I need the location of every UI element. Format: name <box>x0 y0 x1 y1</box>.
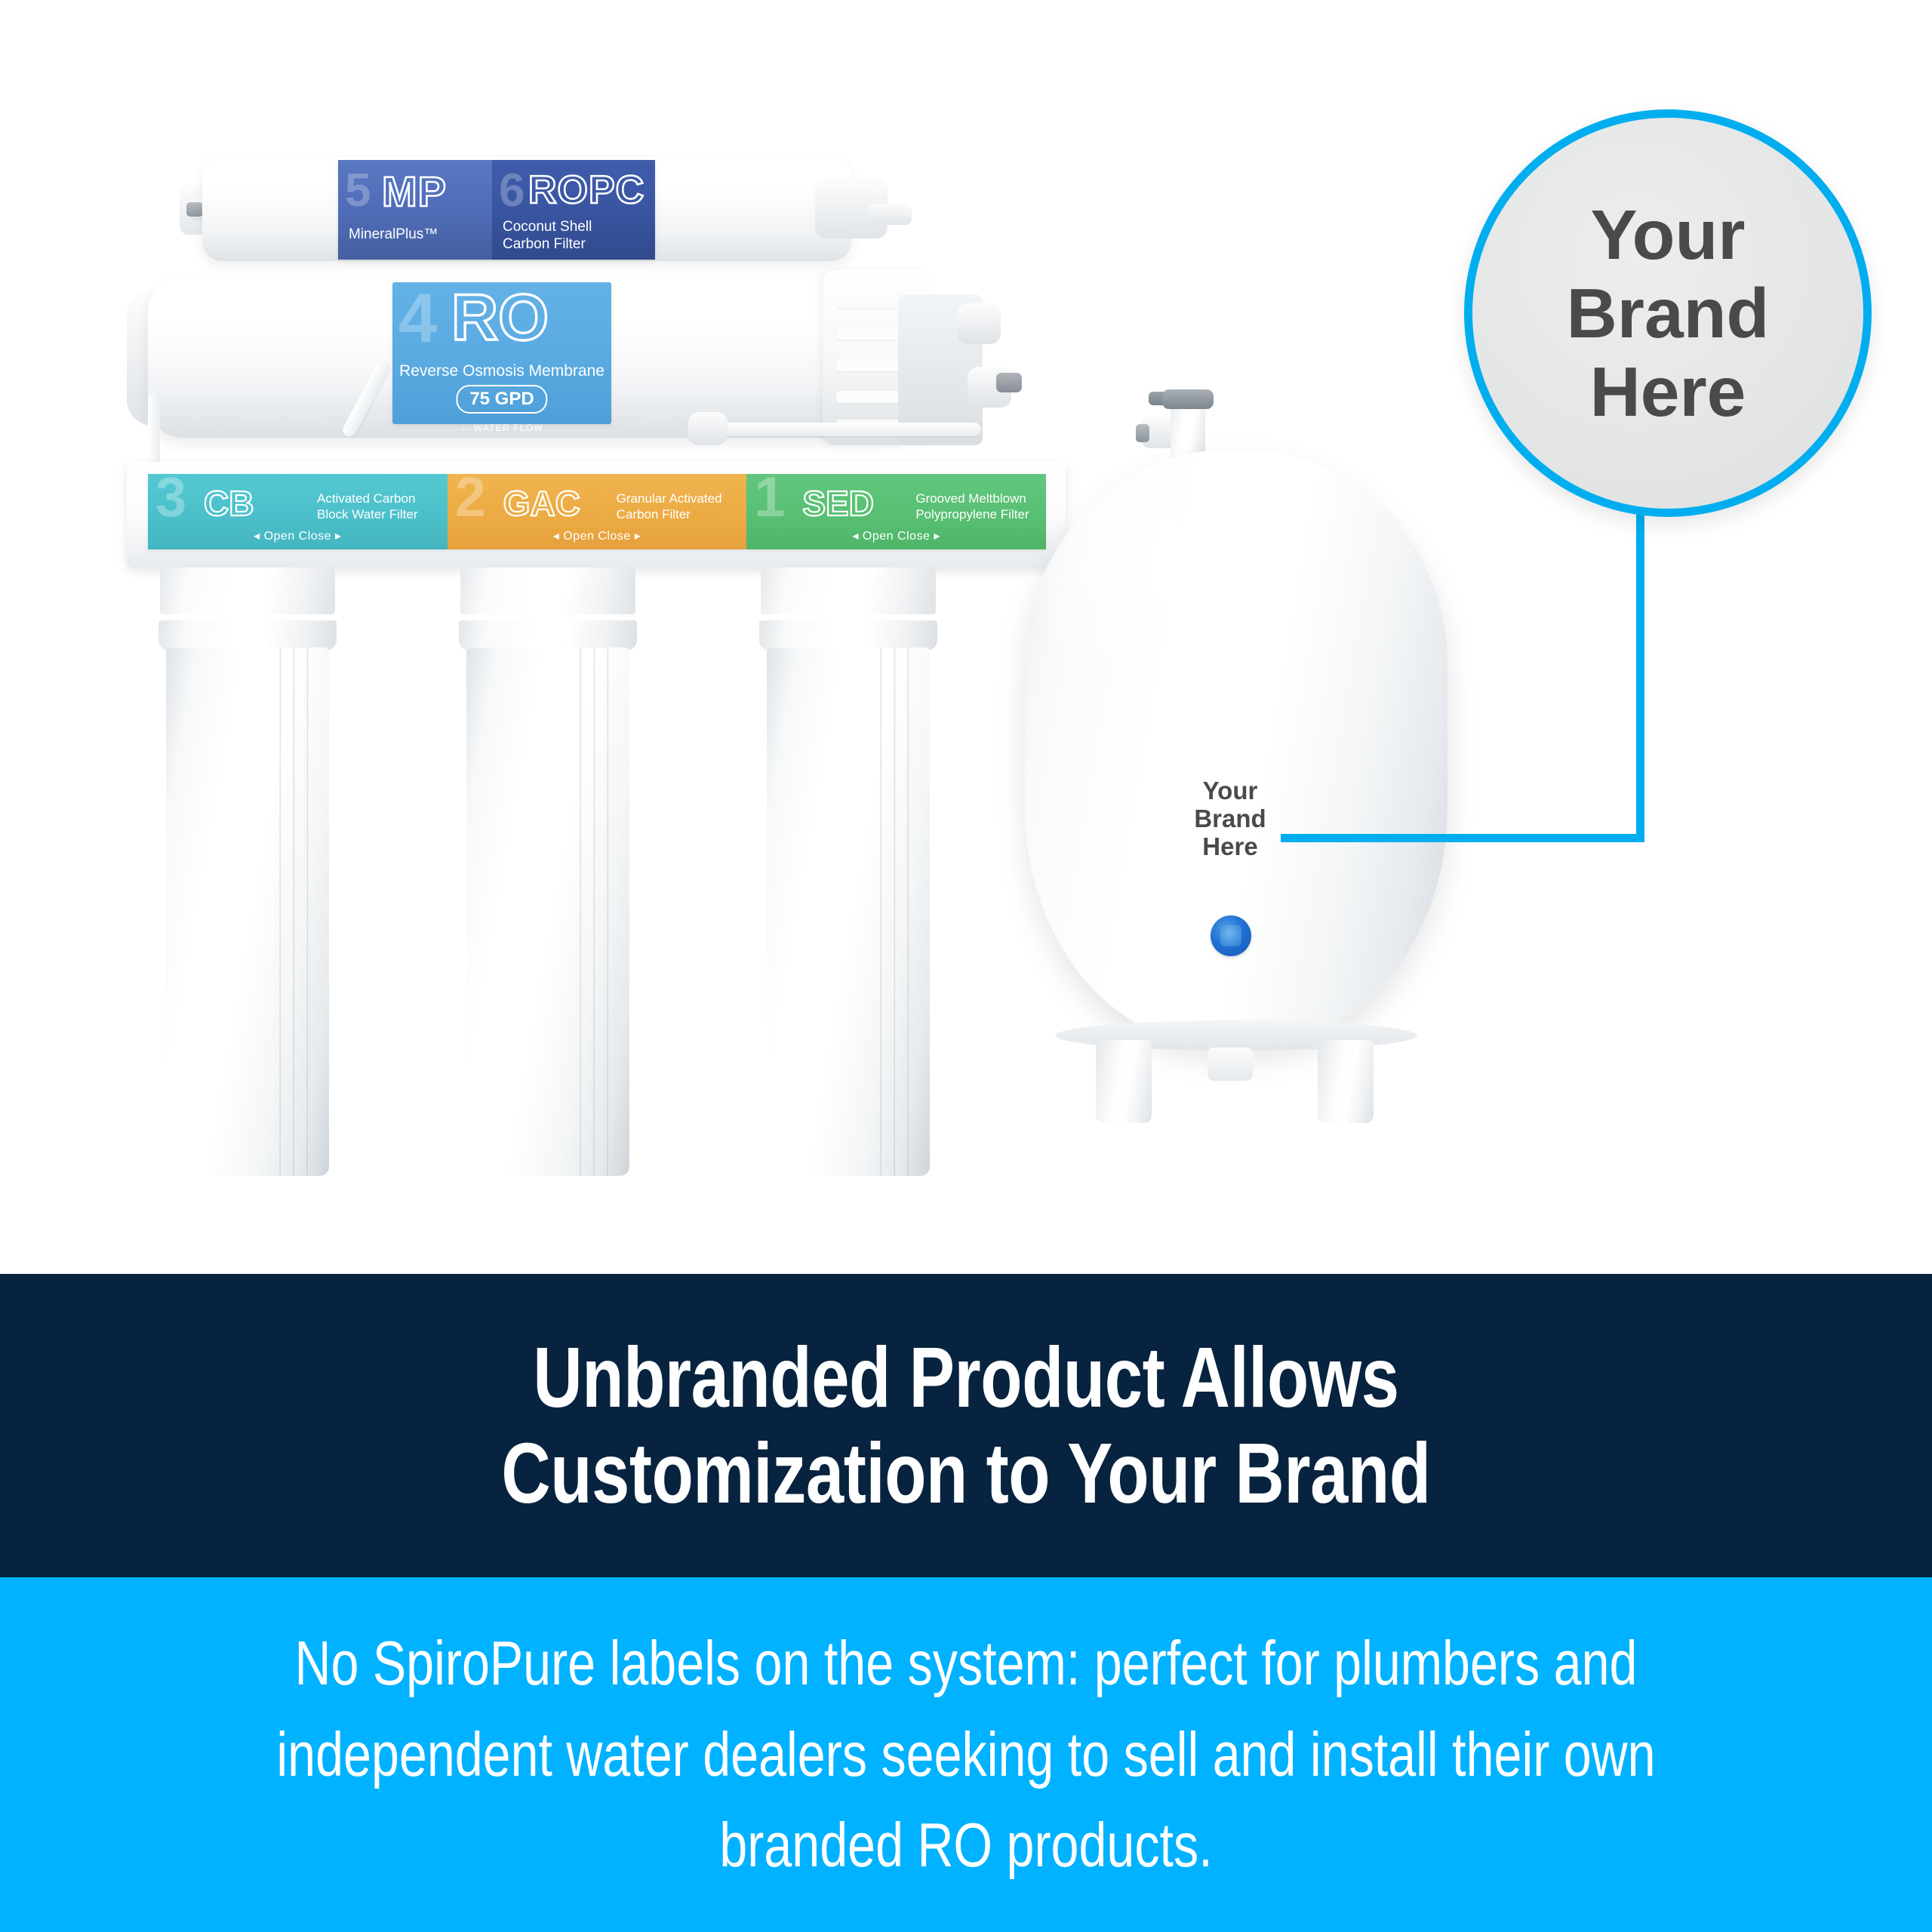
grey-collet-clip <box>996 373 1022 392</box>
stage-code-ro: RO <box>451 285 549 350</box>
stage-number-5: 5 <box>345 168 371 214</box>
open-close-label: ◂ Open Close ▸ <box>448 528 747 543</box>
callout-text: Your Brand Here <box>1567 195 1770 431</box>
tank-outlet-nipple <box>1207 1048 1253 1081</box>
inline-filter-tip-left <box>186 202 203 217</box>
tank-brand-text: Your Brand Here <box>1147 777 1313 861</box>
stage-desc-ropc: Coconut Shell Carbon Filter <box>503 219 649 254</box>
filter-label-mp: 5 MP MineralPlus™ <box>338 160 492 260</box>
open-close-label: ◂ Open Close ▸ <box>746 528 1046 543</box>
marketing-image: 5 MP MineralPlus™ 6 ROPC Coconut Shell C… <box>0 0 1932 1932</box>
body-text: No SpiroPure labels on the system: perfe… <box>229 1618 1703 1890</box>
housing-sump <box>767 648 930 1176</box>
water-tube-vertical <box>148 392 160 465</box>
tank-leg <box>1318 1040 1374 1123</box>
filter-housing-stage-2 <box>460 568 635 1179</box>
filter-housing-stage-3 <box>160 568 335 1179</box>
housing-sump <box>466 648 629 1176</box>
stage-label-bar: 3 CB Activated Carbon Block Water Filter… <box>148 474 1046 549</box>
stage-number-3: 3 <box>155 474 186 525</box>
stage-code-ropc: ROPC <box>528 171 645 210</box>
ro-description: Reverse Osmosis Membrane <box>392 362 611 380</box>
open-close-label: ◂ Open Close ▸ <box>148 528 448 543</box>
stage-label-gac: 2 GAC Granular Activated Carbon Filter ◂… <box>448 474 747 549</box>
stage-number-2: 2 <box>455 474 486 525</box>
housing-sump <box>166 648 329 1176</box>
stage-number-1: 1 <box>754 474 785 525</box>
housing-shoulder <box>759 620 937 651</box>
ro-membrane-label: 4 RO Reverse Osmosis Membrane 75 GPD ← W… <box>392 282 611 424</box>
water-flow-arrow-label: ← WATER FLOW <box>392 423 611 433</box>
housing-cap <box>761 568 936 614</box>
filter-housing-stage-1 <box>761 568 936 1179</box>
headline-text: Unbranded Product Allows Customization t… <box>302 1330 1630 1521</box>
tank-leg <box>1096 1040 1152 1123</box>
housing-shoulder <box>158 620 337 651</box>
housing-cap <box>460 568 635 614</box>
stage-code-cb: CB <box>204 486 254 521</box>
inline-filter-label-group: 5 MP MineralPlus™ 6 ROPC Coconut Shell C… <box>338 160 655 260</box>
stage-code-mp: MP <box>382 171 447 213</box>
brand-callout-circle: Your Brand Here <box>1464 109 1872 517</box>
tank-valve-top <box>1162 389 1214 409</box>
stage-desc-gac: Granular Activated Carbon Filter <box>617 491 722 523</box>
stage-desc-cb: Activated Carbon Block Water Filter <box>317 491 418 523</box>
stage-label-cb: 3 CB Activated Carbon Block Water Filter… <box>148 474 448 549</box>
stage-code-gac: GAC <box>503 486 580 521</box>
housing-shoulder <box>459 620 637 651</box>
housing-cap <box>160 568 335 614</box>
stage-desc-sed: Grooved Meltblown Polypropylene Filter <box>915 491 1029 523</box>
storage-tank <box>1025 450 1447 1046</box>
ro-gpd-badge: 75 GPD <box>456 385 547 414</box>
product-photo: 5 MP MineralPlus™ 6 ROPC Coconut Shell C… <box>0 0 1932 1274</box>
elbow-fitting <box>957 303 1001 344</box>
push-fitting <box>688 412 728 445</box>
body-banner: No SpiroPure labels on the system: perfe… <box>0 1577 1932 1932</box>
stage-number-6: 6 <box>499 168 525 214</box>
tank-elbow-tip <box>1136 424 1149 442</box>
water-tube <box>709 423 981 436</box>
headline-banner: Unbranded Product Allows Customization t… <box>0 1274 1932 1577</box>
callout-leader-horizontal <box>1281 834 1644 842</box>
stage-code-sed: SED <box>802 486 874 521</box>
callout-leader-vertical <box>1636 498 1644 842</box>
inline-filter-stem-right <box>868 204 912 225</box>
filter-label-ropc: 6 ROPC Coconut Shell Carbon Filter <box>492 160 655 260</box>
stage-label-sed: 1 SED Grooved Meltblown Polypropylene Fi… <box>746 474 1046 549</box>
stage-number-4: 4 <box>398 284 437 353</box>
stage-desc-mp: MineralPlus™ <box>349 226 486 244</box>
tank-air-valve-cap-icon <box>1211 915 1251 956</box>
